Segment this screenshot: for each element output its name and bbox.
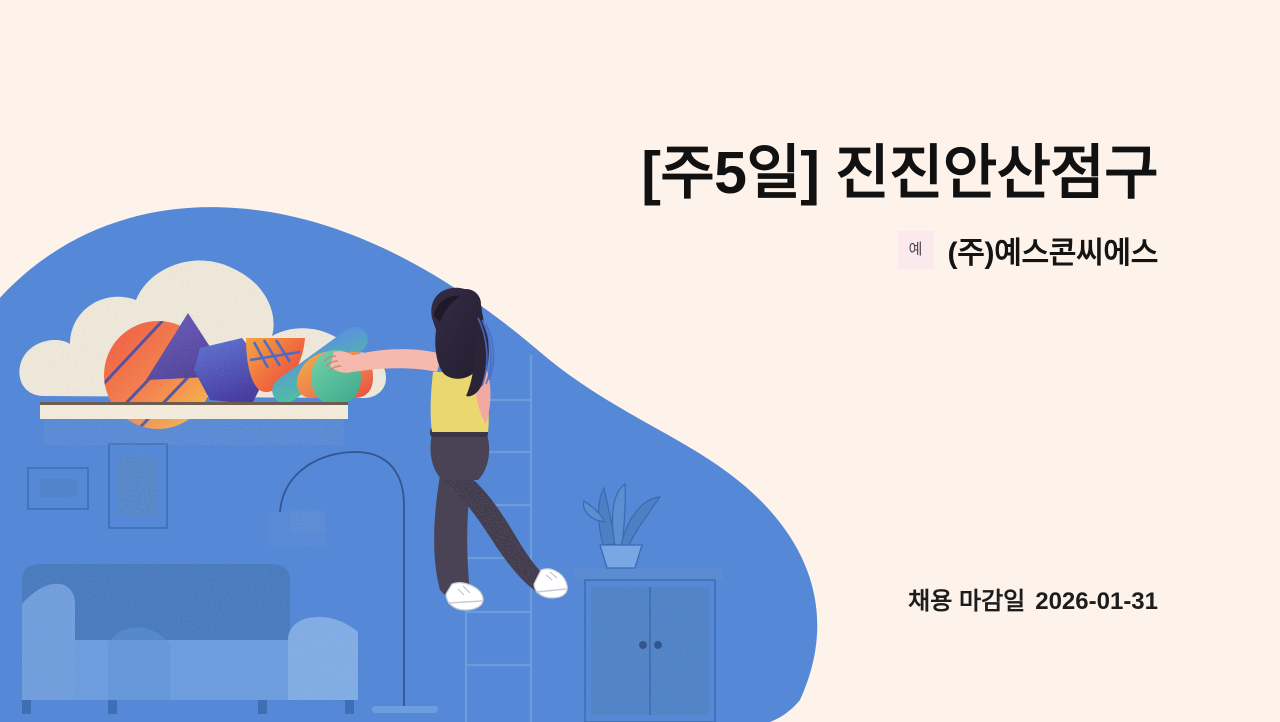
- cabinet: [575, 568, 723, 722]
- job-posting-banner: [주5일] 진진안산점구 예 (주)예스콘씨에스 채용 마감일2026-01-3…: [0, 0, 1280, 722]
- shelf: [40, 402, 348, 445]
- hero-illustration: [0, 0, 1280, 722]
